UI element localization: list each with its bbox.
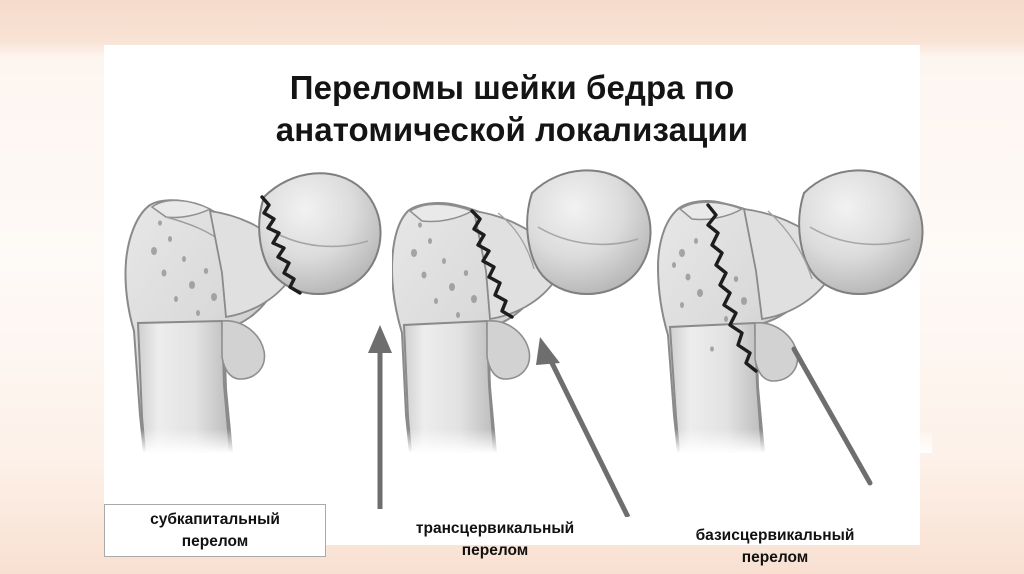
caption-transcervical: трансцервикальный перелом [384,518,606,562]
page-title: Переломы шейки бедра по анатомической ло… [104,67,920,151]
content-panel: Переломы шейки бедра по анатомической ло… [104,45,920,545]
caption-text-basicervical: базисцервикальный перелом [659,525,891,569]
pointer-leader-basicervical [784,341,894,491]
caption-box-subcapital: субкапитальный перелом [104,504,326,557]
figure-femur-subcapital [114,153,394,453]
bone-body [125,173,380,453]
slide-canvas: Переломы шейки бедра по анатомической ло… [0,0,1024,574]
title-line-1: Переломы шейки бедра по [104,67,920,109]
caption-basicervical: базисцервикальный перелом [659,525,891,569]
caption-text-subcapital: субкапитальный перелом [150,509,280,553]
title-line-2: анатомической локализации [104,109,920,151]
caption-text-transcervical: трансцервикальный перелом [384,518,606,562]
pointer-arrow-transcervical [524,327,654,517]
